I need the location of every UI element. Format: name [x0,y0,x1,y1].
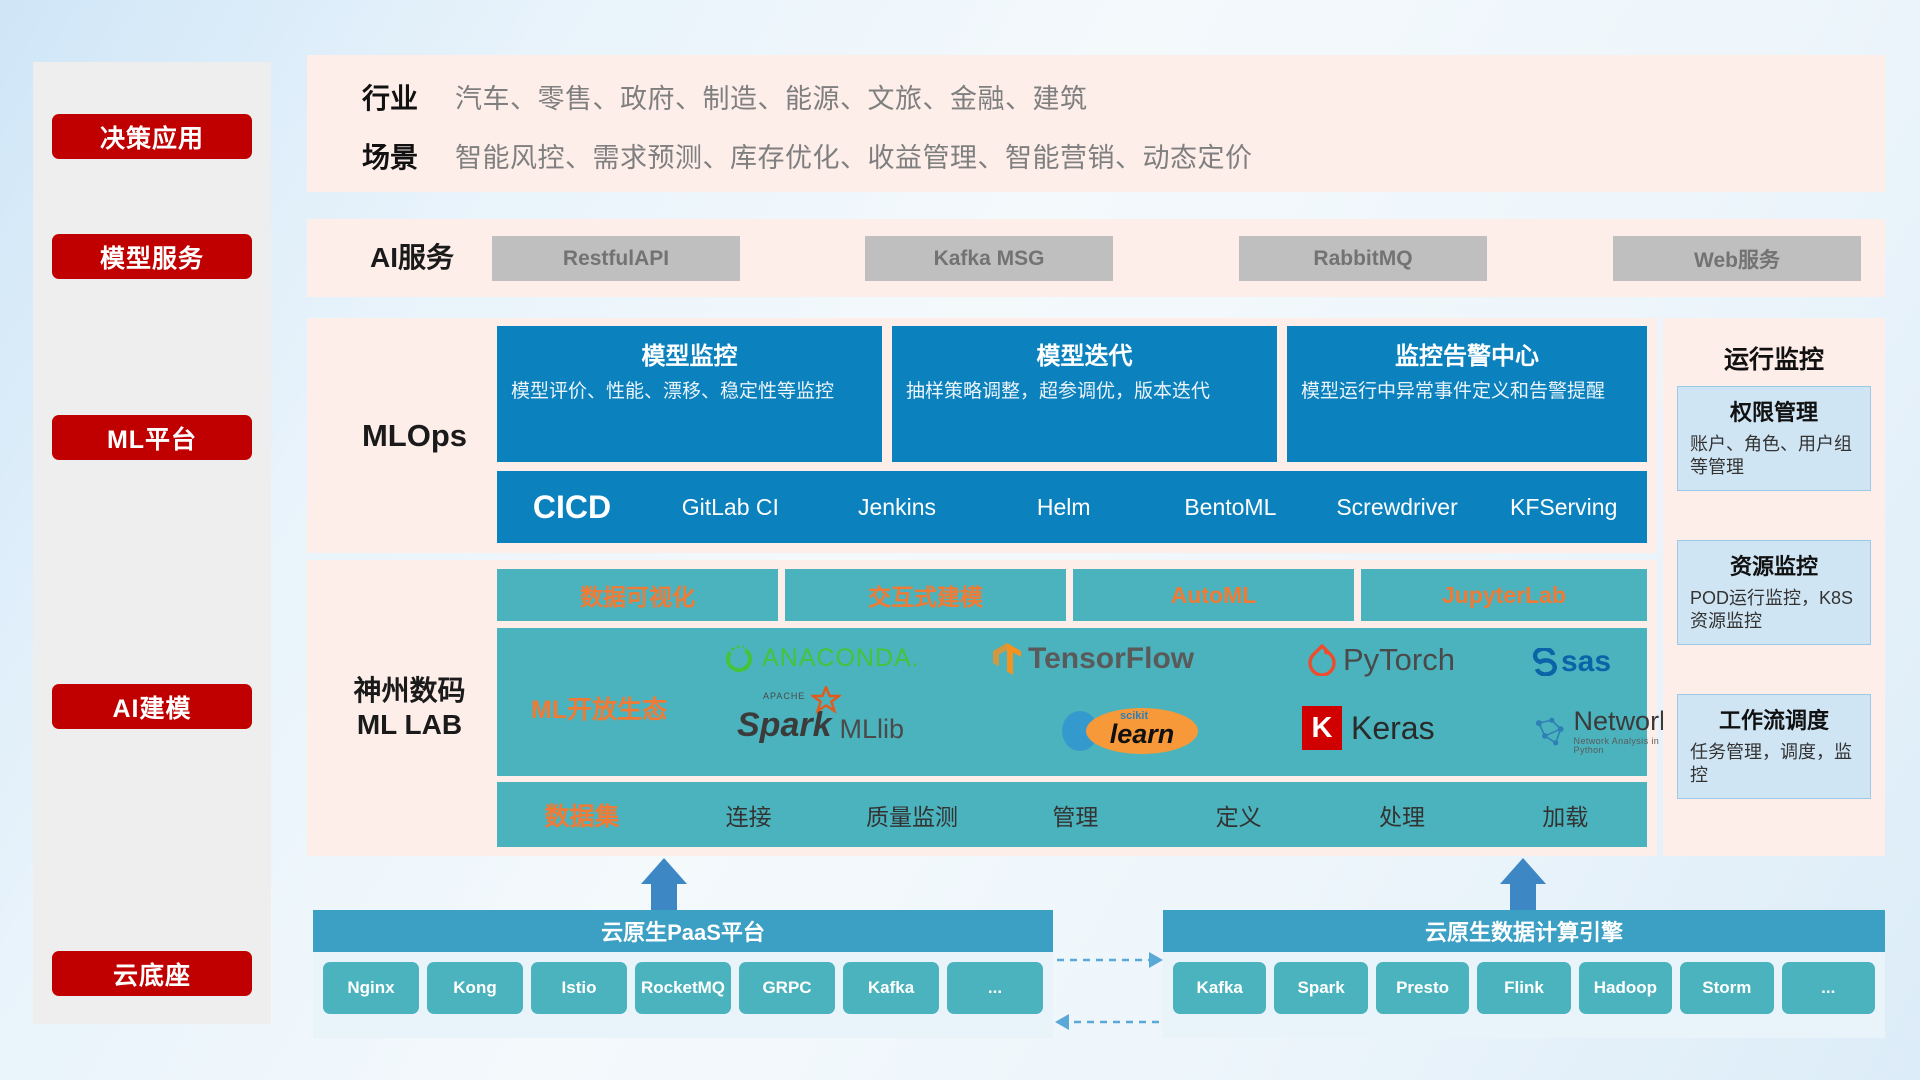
engine-chip-flink[interactable]: Flink [1477,962,1570,1014]
cloud-paas-title: 云原生PaaS平台 [313,910,1053,952]
scikit-tag: scikit [1120,710,1148,722]
card-desc: 抽样策略调整，超参调优，版本迭代 [906,379,1263,404]
cloud-chip-kong[interactable]: Kong [427,962,523,1014]
anaconda-wordmark: ANACONDA. [762,644,920,673]
mllib-wordmark: MLlib [840,714,905,745]
ml-lab-tab-automl[interactable]: AutoML [1073,569,1354,621]
engine-chip-hadoop[interactable]: Hadoop [1579,962,1672,1014]
sas-logo: sas [1532,645,1611,679]
pytorch-mark-icon [1307,644,1337,676]
engine-chip-kafka[interactable]: Kafka [1173,962,1266,1014]
ai-service-band: AI服务 RestfulAPI Kafka MSG RabbitMQ Web服务 [307,219,1885,297]
mlops-band: MLOps 模型监控 模型评价、性能、漂移、稳定性等监控 模型迭代 抽样策略调整… [307,318,1657,553]
scikit-learn-wordmark: learn [1110,719,1175,750]
runtime-monitor-panel: 运行监控 权限管理 账户、角色、用户组等管理 资源监控 POD运行监控，K8S资… [1663,318,1885,856]
card-title: 资源监控 [1690,549,1858,581]
mlops-card-model-monitoring[interactable]: 模型监控 模型评价、性能、漂移、稳定性等监控 [497,326,882,462]
runtime-monitor-title: 运行监控 [1663,340,1885,376]
dataset-item-manage[interactable]: 管理 [994,798,1157,832]
anaconda-logo: ANACONDA. [723,642,920,674]
card-desc: 模型运行中异常事件定义和告警提醒 [1301,379,1633,404]
card-title: 工作流调度 [1690,703,1858,735]
dataset-row: 数据集 连接 质量监测 管理 定义 处理 加载 [497,782,1647,847]
card-title: 模型监控 [511,336,868,371]
card-desc: 任务管理，调度，监控 [1690,741,1858,788]
tensorflow-logo: TensorFlow [992,642,1194,676]
ai-service-item-restfulapi[interactable]: RestfulAPI [492,236,740,281]
ml-lab-label-line1: 神州数码 [353,674,465,708]
cloud-exchange-arrows [1053,940,1168,1050]
cicd-item-screwdriver[interactable]: Screwdriver [1314,494,1481,520]
pytorch-wordmark: PyTorch [1343,642,1455,678]
dataset-label: 数据集 [497,797,667,833]
ml-lab-tab-jupyterlab[interactable]: JupyterLab [1361,569,1647,621]
spark-star-icon [811,686,841,714]
card-desc: 模型评价、性能、漂移、稳定性等监控 [511,379,868,404]
cicd-label: CICD [497,489,647,526]
cloud-chip-nginx[interactable]: Nginx [323,962,419,1014]
rail-item-decision-app[interactable]: 决策应用 [52,114,252,159]
dataset-item-define[interactable]: 定义 [1157,798,1320,832]
cloud-data-engine-title: 云原生数据计算引擎 [1163,910,1885,952]
engine-chip-storm[interactable]: Storm [1680,962,1773,1014]
cicd-item-kfserving[interactable]: KFServing [1480,494,1647,520]
cicd-item-helm[interactable]: Helm [980,494,1147,520]
cloud-data-engine-chips: Kafka Spark Presto Flink Hadoop Storm ..… [1163,952,1885,1024]
mlops-card-alert-center[interactable]: 监控告警中心 模型运行中异常事件定义和告警提醒 [1287,326,1647,462]
card-desc: POD运行监控，K8S资源监控 [1690,587,1858,634]
sas-mark-icon [1532,648,1558,676]
monitor-card-workflow[interactable]: 工作流调度 任务管理，调度，监控 [1677,694,1871,799]
engine-chip-more[interactable]: ... [1782,962,1875,1014]
mlops-label: MLOps [327,318,502,553]
cloud-data-engine-panel: 云原生数据计算引擎 Kafka Spark Presto Flink Hadoo… [1163,910,1885,1038]
monitor-card-permission[interactable]: 权限管理 账户、角色、用户组等管理 [1677,386,1871,491]
dataset-item-connect[interactable]: 连接 [667,798,830,832]
rail-item-ml-platform[interactable]: ML平台 [52,415,252,460]
diagram-canvas: 决策应用 模型服务 ML平台 AI建模 云底座 行业 汽车、零售、政府、制造、能… [0,0,1920,1080]
engine-chip-presto[interactable]: Presto [1376,962,1469,1014]
scikit-orange-blob-icon: scikit learn [1086,708,1198,754]
engine-chip-spark[interactable]: Spark [1274,962,1367,1014]
tensorflow-mark-icon [992,642,1022,676]
cicd-item-bentoml[interactable]: BentoML [1147,494,1314,520]
spark-mllib-logo: APACHE Spark MLlib [737,706,904,745]
ai-service-label: AI服务 [337,219,487,297]
card-desc: 账户、角色、用户组等管理 [1690,433,1858,480]
ml-lab-band: 神州数码 ML LAB 数据可视化 交互式建模 AutoML JupyterLa… [307,560,1657,856]
dataset-item-process[interactable]: 处理 [1320,798,1483,832]
networkx-mark-icon [1532,715,1568,749]
cloud-chip-kafka[interactable]: Kafka [843,962,939,1014]
cloud-chip-more[interactable]: ... [947,962,1043,1014]
scenario-key: 场景 [362,136,418,176]
cloud-chip-grpc[interactable]: GRPC [739,962,835,1014]
monitor-card-resource[interactable]: 资源监控 POD运行监控，K8S资源监控 [1677,540,1871,645]
tensorflow-wordmark: TensorFlow [1028,642,1194,676]
ml-lab-label: 神州数码 ML LAB [317,560,502,856]
card-title: 模型迭代 [906,336,1263,371]
dataset-item-quality-monitoring[interactable]: 质量监测 [830,798,993,832]
cloud-chip-rocketmq[interactable]: RocketMQ [635,962,731,1014]
scikit-learn-logo: scikit learn [1062,708,1198,754]
ai-service-item-kafka-msg[interactable]: Kafka MSG [865,236,1113,281]
ai-service-item-web-service[interactable]: Web服务 [1613,236,1861,281]
ml-open-ecosystem-panel: ML开放生态 ANACONDA. TensorFlow [497,628,1647,776]
keras-wordmark: Keras [1351,710,1435,747]
cicd-item-gitlab-ci[interactable]: GitLab CI [647,494,814,520]
cloud-chip-istio[interactable]: Istio [531,962,627,1014]
industry-key: 行业 [362,77,418,117]
keras-mark-icon: K [1302,706,1342,750]
ai-service-item-rabbitmq[interactable]: RabbitMQ [1239,236,1487,281]
card-title: 权限管理 [1690,395,1858,427]
ml-lab-label-line2: ML LAB [353,708,465,742]
dataset-item-load[interactable]: 加载 [1484,798,1647,832]
ml-lab-tab-interactive-modeling[interactable]: 交互式建模 [785,569,1066,621]
industry-value: 汽车、零售、政府、制造、能源、文旅、金融、建筑 [455,77,1088,116]
cicd-item-jenkins[interactable]: Jenkins [814,494,981,520]
sas-wordmark: sas [1561,645,1611,679]
cicd-bar: CICD GitLab CI Jenkins Helm BentoML Scre… [497,471,1647,543]
cloud-paas-chips: Nginx Kong Istio RocketMQ GRPC Kafka ... [313,952,1053,1024]
left-rail: 决策应用 模型服务 ML平台 AI建模 云底座 [33,62,271,1024]
pytorch-logo: PyTorch [1307,642,1455,678]
rail-item-cloud-base[interactable]: 云底座 [52,951,252,996]
scenario-value: 智能风控、需求预测、库存优化、收益管理、智能营销、动态定价 [455,136,1253,175]
spark-apache-tag: APACHE [763,691,805,701]
mlops-card-model-iteration[interactable]: 模型迭代 抽样策略调整，超参调优，版本迭代 [892,326,1277,462]
cloud-paas-panel: 云原生PaaS平台 Nginx Kong Istio RocketMQ GRPC… [313,910,1053,1038]
arrow-head-left [1055,1014,1069,1030]
rail-item-model-service[interactable]: 模型服务 [52,234,252,279]
keras-logo: K Keras [1302,706,1435,750]
card-title: 监控告警中心 [1301,336,1633,371]
ml-lab-tab-data-visualization[interactable]: 数据可视化 [497,569,778,621]
arrow-head-right [1149,952,1163,968]
ml-open-ecosystem-label: ML开放生态 [531,690,667,726]
industry-scenario-band: 行业 汽车、零售、政府、制造、能源、文旅、金融、建筑 场景 智能风控、需求预测、… [307,55,1885,192]
anaconda-mark-icon [723,642,755,674]
rail-item-ai-modeling[interactable]: AI建模 [52,684,252,729]
keras-mark-letter: K [1312,712,1333,745]
